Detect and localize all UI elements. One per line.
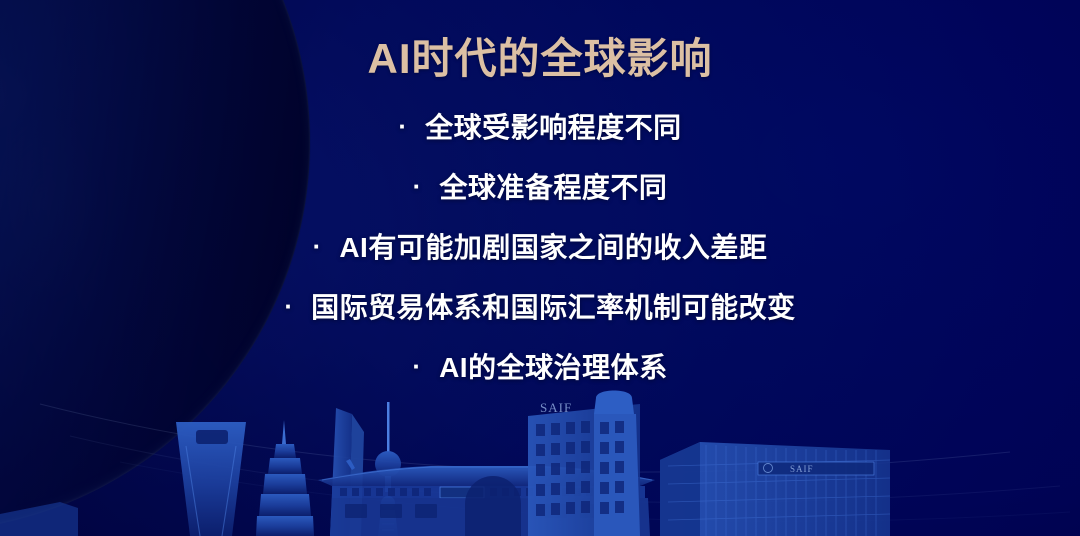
slide-content: AI时代的全球影响 · 全球受影响程度不同 · 全球准备程度不同 · AI有可能… [0, 0, 1080, 536]
list-item-label: AI有可能加剧国家之间的收入差距 [339, 234, 767, 262]
bullet-dot-icon: · [398, 113, 407, 139]
presentation-slide: SAIF SAIF AI时代的全球影响 · 全球受影响程度不同 [0, 0, 1080, 536]
list-item-label: 国际贸易体系和国际汇率机制可能改变 [311, 294, 796, 322]
list-item: · 全球准备程度不同 [413, 174, 668, 202]
list-item: · AI的全球治理体系 [412, 354, 667, 382]
list-item-label: 全球受影响程度不同 [425, 114, 682, 142]
page-title: AI时代的全球影响 [367, 36, 712, 82]
bullet-dot-icon: · [412, 353, 421, 379]
list-item: · 全球受影响程度不同 [398, 114, 681, 142]
list-item: · 国际贸易体系和国际汇率机制可能改变 [284, 294, 795, 322]
bullet-dot-icon: · [413, 173, 422, 199]
bullet-dot-icon: · [284, 293, 293, 319]
bullet-list: · 全球受影响程度不同 · 全球准备程度不同 · AI有可能加剧国家之间的收入差… [0, 110, 1080, 382]
list-item: · AI有可能加剧国家之间的收入差距 [313, 234, 768, 262]
list-item-label: 全球准备程度不同 [439, 174, 667, 202]
list-item-label: AI的全球治理体系 [439, 354, 668, 382]
bullet-dot-icon: · [313, 233, 322, 259]
